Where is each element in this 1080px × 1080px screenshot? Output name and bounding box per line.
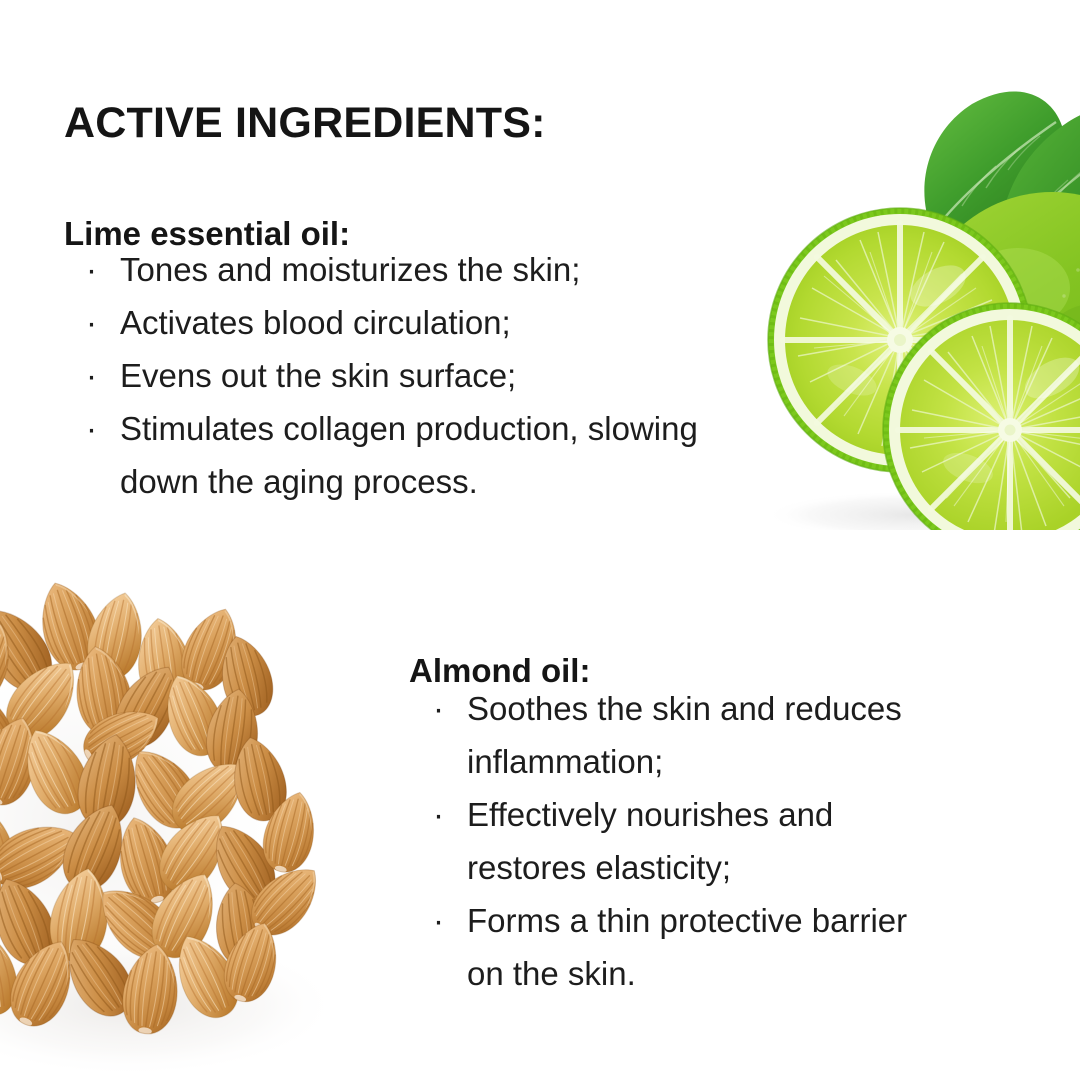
list-item-label: Activates blood circulation; — [120, 296, 744, 349]
list-item: · Forms a thin protective barrier on the… — [431, 894, 931, 1000]
lime-photo — [700, 60, 1080, 530]
list-item: · Tones and moisturizes the skin; — [84, 243, 744, 296]
list-item-label: Forms a thin protective barrier on the s… — [467, 894, 931, 1000]
list-item: · Soothes the skin and reduces inflammat… — [431, 682, 931, 788]
bullet-dot-icon: · — [86, 243, 97, 296]
almond-benefits-list: · Soothes the skin and reduces inflammat… — [431, 682, 931, 1000]
list-item-label: Tones and moisturizes the skin; — [120, 243, 744, 296]
bullet-dot-icon: · — [433, 894, 444, 947]
list-item-label: Evens out the skin surface; — [120, 349, 744, 402]
bullet-dot-icon: · — [433, 682, 444, 735]
bullet-dot-icon: · — [86, 402, 97, 455]
page-title: ACTIVE INGREDIENTS: — [64, 99, 546, 148]
poster-canvas: ACTIVE INGREDIENTS: Lime essential oil: … — [0, 0, 1080, 1080]
list-item: · Effectively nourishes and restores ela… — [431, 788, 931, 894]
list-item: · Activates blood circulation; — [84, 296, 744, 349]
bullet-dot-icon: · — [86, 296, 97, 349]
list-item: · Evens out the skin surface; — [84, 349, 744, 402]
list-item-label: Effectively nourishes and restores elast… — [467, 788, 931, 894]
list-item: · Stimulates collagen production, slowin… — [84, 402, 744, 508]
almond-photo — [0, 575, 390, 1080]
bullet-dot-icon: · — [433, 788, 444, 841]
list-item-label: Stimulates collagen production, slowing … — [120, 402, 744, 508]
bullet-dot-icon: · — [86, 349, 97, 402]
lime-benefits-list: · Tones and moisturizes the skin; · Acti… — [84, 243, 744, 508]
list-item-label: Soothes the skin and reduces inflammatio… — [467, 682, 931, 788]
